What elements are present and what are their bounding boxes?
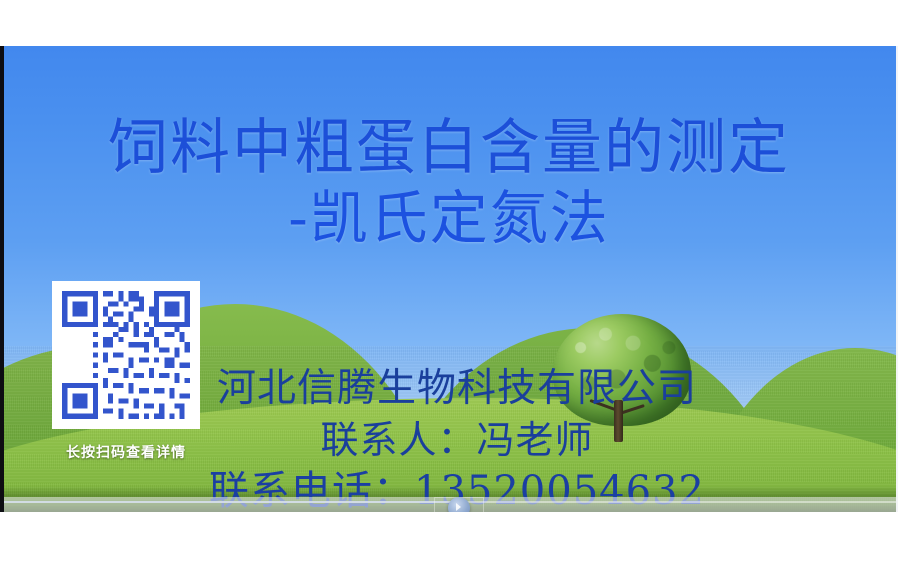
media-right-bezel bbox=[896, 46, 898, 512]
tree-trunk bbox=[614, 400, 623, 442]
progress-fill bbox=[4, 501, 456, 503]
media-left-bezel bbox=[0, 46, 4, 512]
qr-caption: 长按扫码查看详情 bbox=[52, 442, 200, 462]
qr-code-image[interactable] bbox=[52, 281, 200, 429]
video-player[interactable]: 饲料中粗蛋白含量的测定 -凯氏定氮法 bbox=[0, 46, 898, 512]
top-letterbox bbox=[0, 0, 900, 46]
screenshot-root: 饲料中粗蛋白含量的测定 -凯氏定氮法 bbox=[0, 0, 900, 561]
progress-track[interactable] bbox=[4, 501, 898, 503]
player-control-bar[interactable] bbox=[4, 497, 898, 512]
tree-illustration bbox=[551, 314, 693, 444]
qr-code-block[interactable]: 长按扫码查看详情 bbox=[52, 281, 200, 462]
play-triangle-icon bbox=[456, 503, 461, 511]
progress-knob[interactable] bbox=[448, 497, 470, 512]
bottom-letterbox bbox=[0, 512, 900, 561]
